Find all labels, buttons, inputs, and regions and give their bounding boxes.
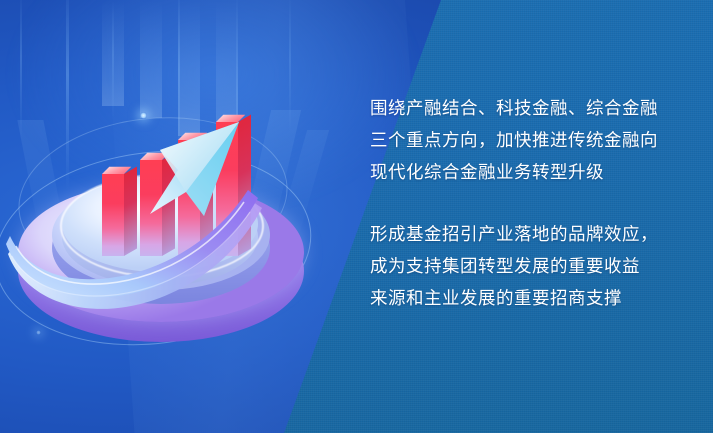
paragraph-1-line-2: 三个重点方向，加快推进传统金融向	[370, 124, 690, 156]
paragraph-2-line-1: 形成基金招引产业落地的品牌效应，	[370, 218, 690, 250]
paragraph-2-line-2: 成为支持集团转型发展的重要收益	[370, 250, 690, 282]
text-copy-block: 围绕产融结合、科技金融、综合金融 三个重点方向，加快推进传统金融向 现代化综合金…	[370, 92, 690, 314]
bar-light-trail	[102, 0, 124, 106]
paragraph-2: 形成基金招引产业落地的品牌效应， 成为支持集团转型发展的重要收益 来源和主业发展…	[370, 218, 690, 314]
growth-chart-illustration	[0, 96, 340, 356]
paragraph-1: 围绕产融结合、科技金融、综合金融 三个重点方向，加快推进传统金融向 现代化综合金…	[370, 92, 690, 188]
paragraph-1-line-1: 围绕产融结合、科技金融、综合金融	[370, 92, 690, 124]
growth-arrow	[0, 96, 340, 356]
paragraph-2-line-3: 来源和主业发展的重要招商支撑	[370, 282, 690, 314]
paragraph-1-line-3: 现代化综合金融业务转型升级	[370, 156, 690, 188]
slide-canvas: 围绕产融结合、科技金融、综合金融 三个重点方向，加快推进传统金融向 现代化综合金…	[0, 0, 713, 433]
